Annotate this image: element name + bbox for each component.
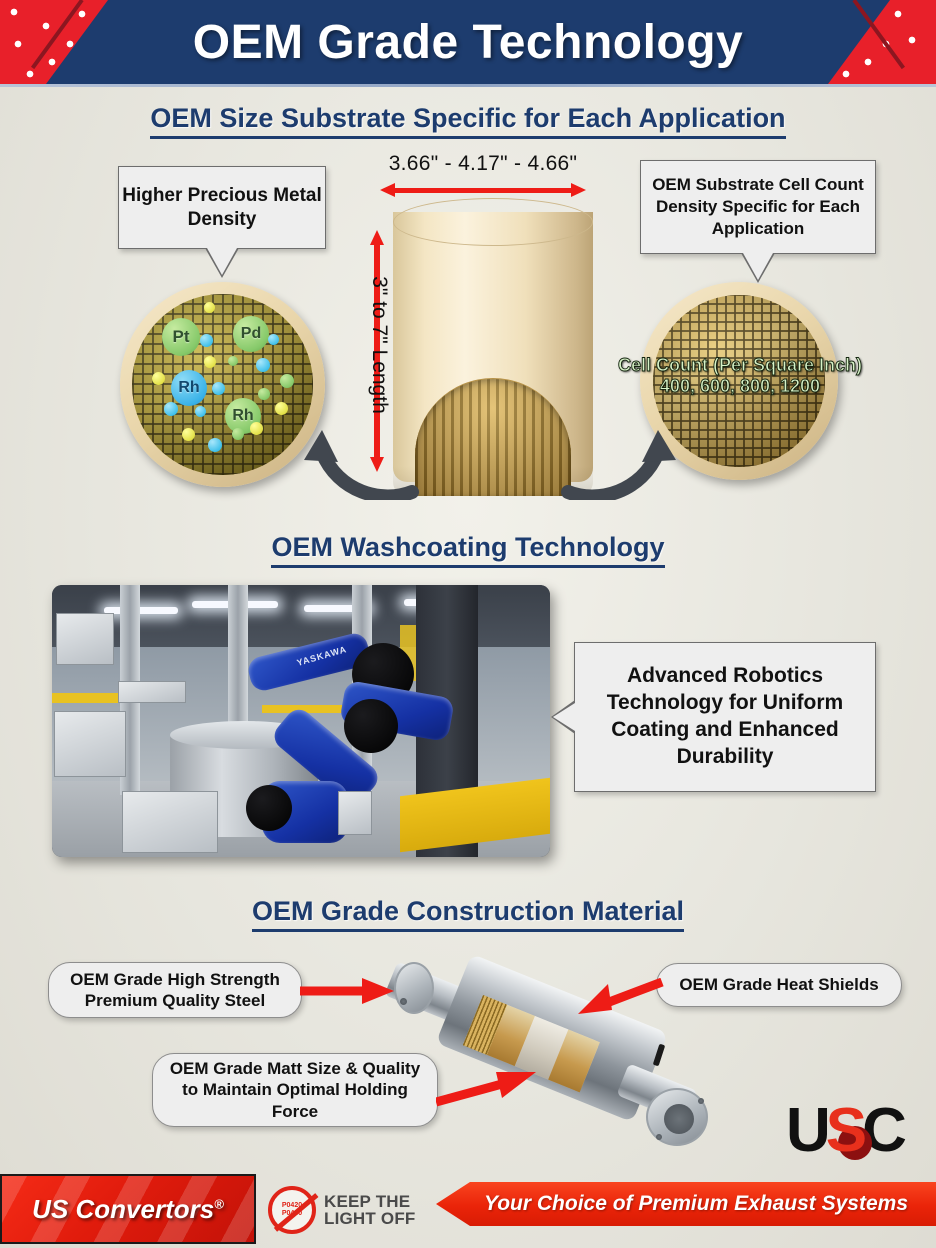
callout-matt-holding-force: OEM Grade Matt Size & Quality to Maintai…: [152, 1053, 438, 1127]
particle-dot: [228, 356, 238, 366]
page-footer: US Convertors® P0420 P0430 KEEP THE LIGH…: [0, 1170, 936, 1248]
page-title: OEM Grade Technology: [0, 0, 936, 84]
particle-dot: [280, 374, 294, 388]
particle-rh-blue: Rh: [171, 370, 207, 406]
registered-mark: ®: [214, 1196, 224, 1211]
callout-cell-count-density: OEM Substrate Cell Count Density Specifi…: [640, 160, 876, 254]
connector-arrow-left: [290, 400, 420, 500]
particle-dot: [258, 388, 270, 400]
callout-advanced-robotics: Advanced Robotics Technology for Uniform…: [574, 642, 876, 792]
particle-dot: [208, 438, 222, 452]
substrate-honeycomb-cutaway: [415, 378, 571, 496]
particle-pt: Pt: [162, 318, 200, 356]
red-arrow-heat-shields: [578, 978, 664, 1014]
callout-heat-shields-text: OEM Grade Heat Shields: [679, 975, 878, 995]
particle-dot: [195, 406, 206, 417]
us-convertors-logo: US Convertors®: [0, 1174, 256, 1244]
particle-dot: [275, 402, 288, 415]
substrate-width-label: 3.66" - 4.17" - 4.66": [330, 152, 636, 176]
no-entry-icon: P0420 P0430: [268, 1186, 316, 1234]
callout-matt-holding-force-text: OEM Grade Matt Size & Quality to Maintai…: [163, 1058, 427, 1121]
dtc-code-p0420: P0420: [282, 1202, 302, 1210]
keep-line-2: LIGHT OFF: [324, 1210, 416, 1227]
callout-advanced-robotics-text: Advanced Robotics Technology for Uniform…: [585, 663, 865, 771]
red-arrow-steel: [300, 978, 396, 1004]
particle-dot: [152, 372, 165, 385]
callout-precious-metal-density-text: Higher Precious Metal Density: [119, 184, 325, 232]
robotics-factory-photo: YASKAWA: [52, 585, 550, 857]
particle-dot: [204, 356, 216, 368]
particle-dot: [268, 334, 279, 345]
callout-premium-steel-text: OEM Grade High Strength Premium Quality …: [59, 969, 291, 1011]
section-heading-substrate: OEM Size Substrate Specific for Each App…: [0, 103, 936, 134]
section-heading-washcoating: OEM Washcoating Technology: [0, 532, 936, 563]
header-divider: [0, 84, 936, 87]
usc-logo-u: U: [786, 1096, 826, 1165]
callout-premium-steel: OEM Grade High Strength Premium Quality …: [48, 962, 302, 1018]
usc-logo-s: S: [826, 1096, 862, 1165]
cell-count-values: 400, 600, 800, 1200: [595, 376, 885, 397]
callout-cell-count-density-text: OEM Substrate Cell Count Density Specifi…: [649, 174, 867, 240]
section-heading-substrate-text: OEM Size Substrate Specific for Each App…: [150, 103, 785, 139]
section-heading-construction: OEM Grade Construction Material: [0, 896, 936, 927]
section-heading-construction-text: OEM Grade Construction Material: [252, 896, 684, 932]
particle-dot: [250, 422, 263, 435]
particle-dot: [200, 334, 213, 347]
particle-dot: [204, 302, 215, 313]
infographic-page: OEM Grade Technology OEM Size Substrate …: [0, 0, 936, 1248]
particle-dot: [232, 428, 244, 440]
footer-tagline-banner: Your Choice of Premium Exhaust Systems: [436, 1182, 936, 1226]
keep-the-light-off-badge: P0420 P0430 KEEP THE LIGHT OFF: [268, 1184, 438, 1236]
usc-logo: USC: [786, 1100, 916, 1166]
section-heading-washcoating-text: OEM Washcoating Technology: [271, 532, 664, 568]
callout-precious-metal-density: Higher Precious Metal Density: [118, 166, 326, 249]
particle-pd: Pd: [233, 316, 269, 352]
usc-logo-c: C: [862, 1096, 902, 1165]
width-dimension-arrow: [380, 183, 586, 197]
callout-heat-shields: OEM Grade Heat Shields: [656, 963, 902, 1007]
keep-line-1: KEEP THE: [324, 1193, 416, 1210]
brand-name: US Convertors: [32, 1194, 214, 1224]
particle-dot: [212, 382, 225, 395]
cell-count-title: Cell Count (Per Square Inch): [595, 355, 885, 376]
particle-dot: [182, 428, 195, 441]
footer-tagline-text: Your Choice of Premium Exhaust Systems: [464, 1192, 908, 1216]
particle-dot: [256, 358, 270, 372]
connector-arrow-right: [560, 400, 690, 500]
red-arrow-matt: [436, 1062, 546, 1110]
dtc-code-p0430: P0430: [282, 1210, 302, 1218]
particle-dot: [164, 402, 178, 416]
page-header: OEM Grade Technology: [0, 0, 936, 84]
